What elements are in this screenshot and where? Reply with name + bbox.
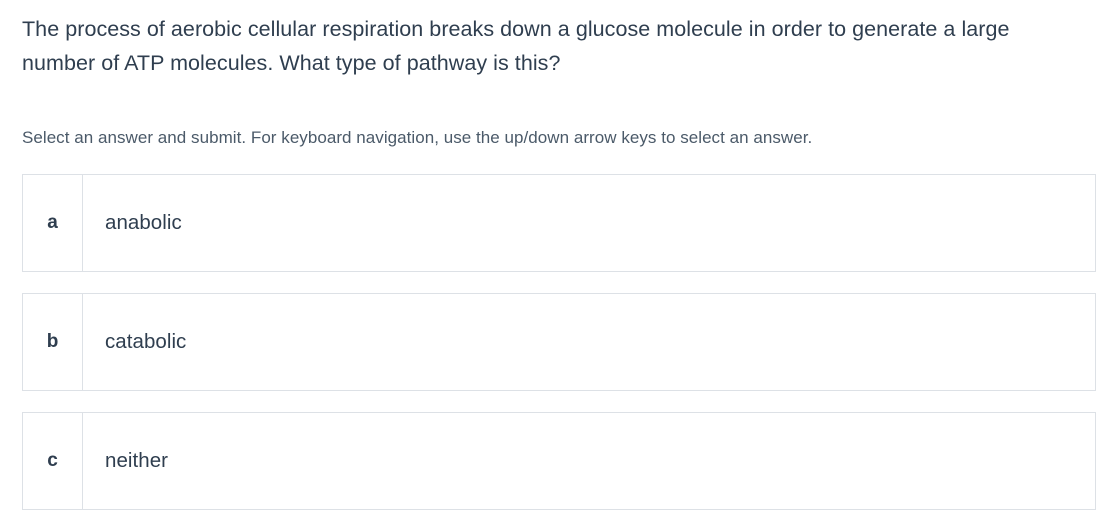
answer-choice-list: a anabolic b catabolic c neither <box>22 174 1096 510</box>
answer-option-text-a: anabolic <box>83 175 1095 271</box>
answer-option-c[interactable]: c neither <box>22 412 1096 510</box>
answer-option-letter-a: a <box>23 175 83 271</box>
question-page: The process of aerobic cellular respirat… <box>0 0 1110 532</box>
answer-option-text-c: neither <box>83 413 1095 509</box>
question-stem: The process of aerobic cellular respirat… <box>22 12 1052 80</box>
answer-option-a[interactable]: a anabolic <box>22 174 1096 272</box>
answer-option-b[interactable]: b catabolic <box>22 293 1096 391</box>
answer-option-letter-c: c <box>23 413 83 509</box>
answer-instruction-text: Select an answer and submit. For keyboar… <box>22 125 1082 151</box>
answer-option-text-b: catabolic <box>83 294 1095 390</box>
answer-option-letter-b: b <box>23 294 83 390</box>
